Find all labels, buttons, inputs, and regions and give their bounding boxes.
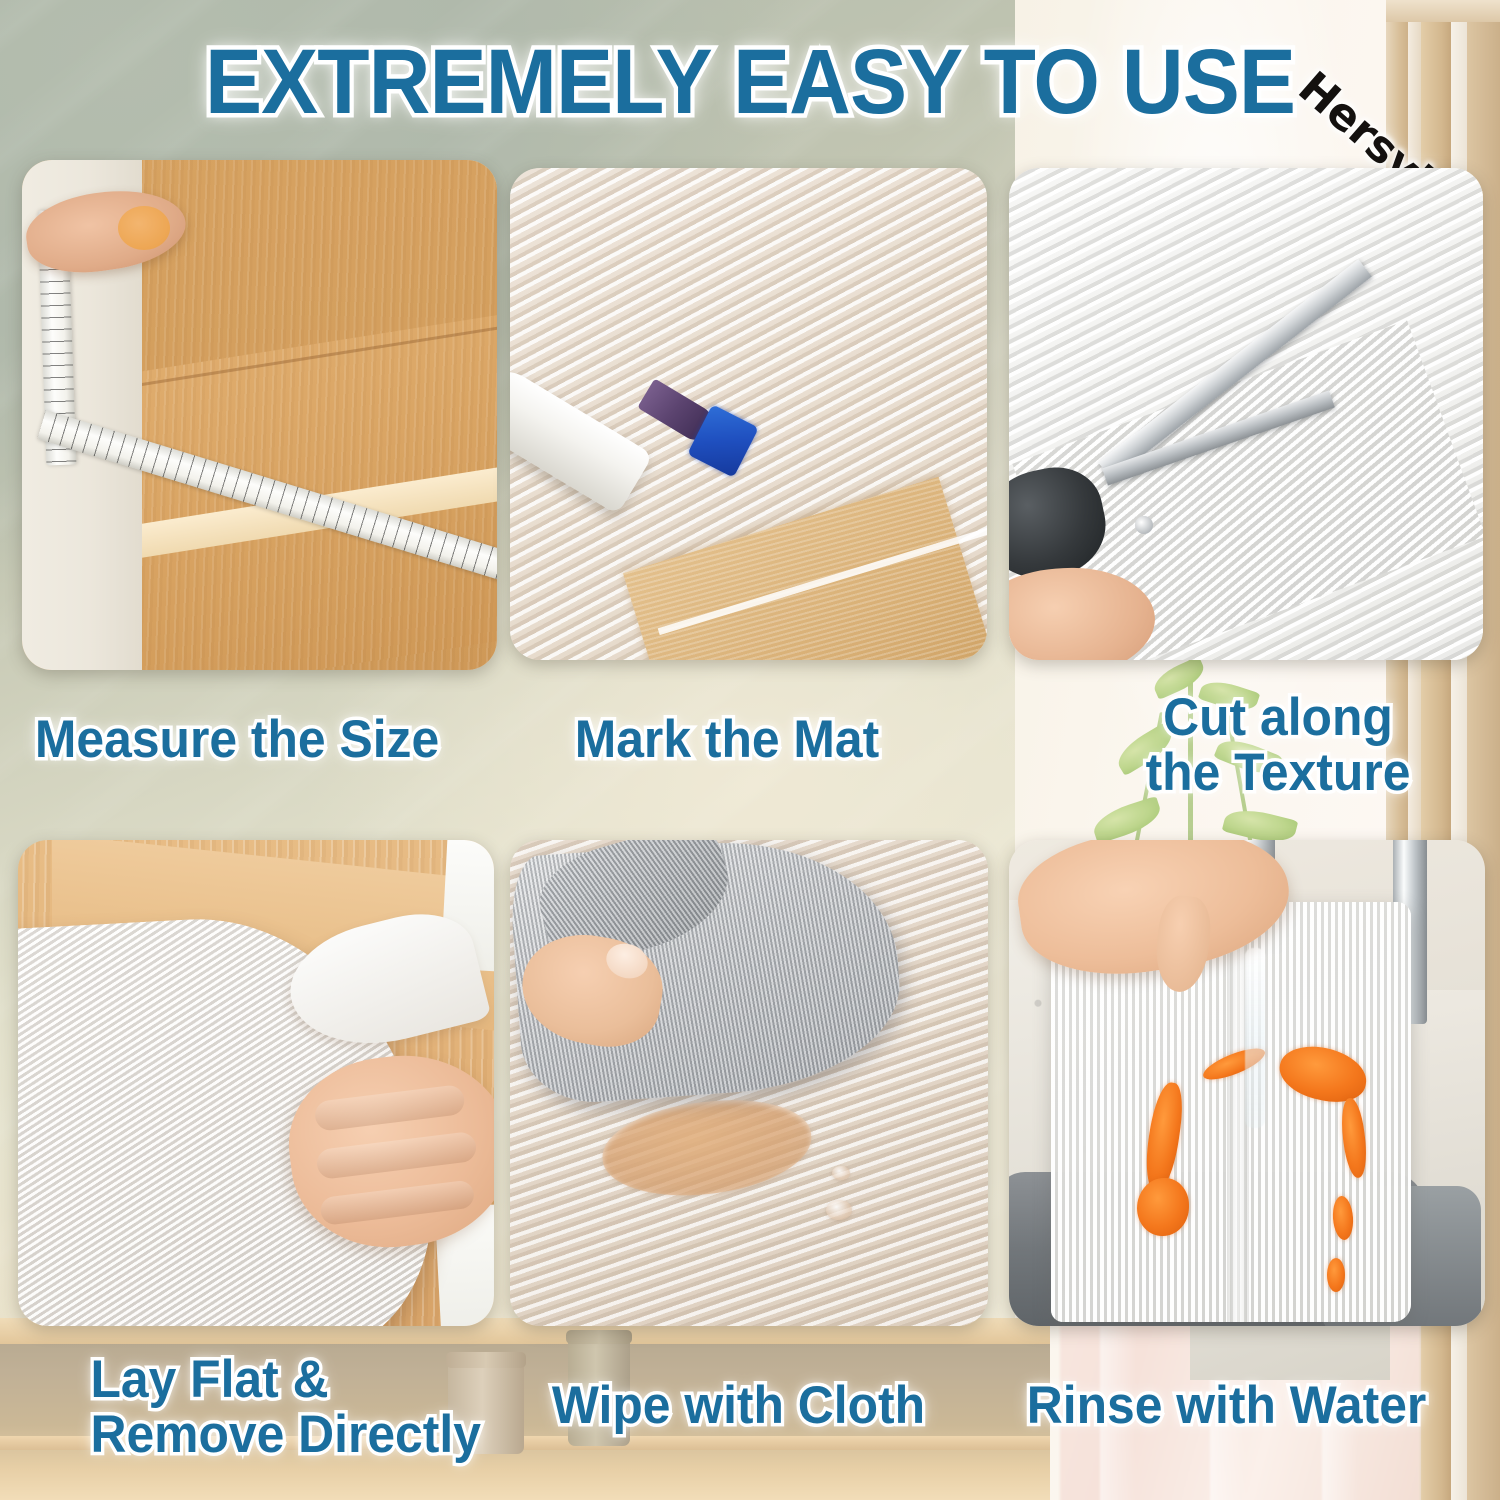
step-photo-rinse-with-water [1009,840,1485,1326]
step-photo-measure-the-size [22,160,497,670]
step-caption-5: Wipe with Cloth [552,1378,925,1433]
background-jar-lid [566,1330,632,1344]
step-caption-3: Cut along the Texture [1090,690,1466,800]
running-water-stream [1245,948,1265,1128]
water-droplet [826,1200,852,1220]
step-photo-wipe-with-cloth [510,840,988,1326]
window-frame-top [1386,0,1500,22]
product-infographic: EXTREMELY EASY TO USE Hersvin [0,0,1500,1500]
page-title: EXTREMELY EASY TO USE [53,36,1448,128]
orange-stain [1327,1258,1345,1292]
step-caption-6: Rinse with Water [1027,1378,1427,1433]
scissors-pivot-screw [1135,516,1153,534]
orange-stain [1137,1178,1189,1236]
water-droplet [832,1166,850,1180]
step-caption-2: Mark the Mat [575,712,880,767]
tape-measure-case [118,206,170,250]
step-photo-lay-flat-remove-directly [18,840,494,1326]
step-caption-1: Measure the Size [35,712,439,767]
step-photo-cut-along-the-texture [1009,168,1483,660]
step-caption-4: Lay Flat & Remove Directly [90,1352,480,1462]
step-photo-mark-the-mat [510,168,987,660]
